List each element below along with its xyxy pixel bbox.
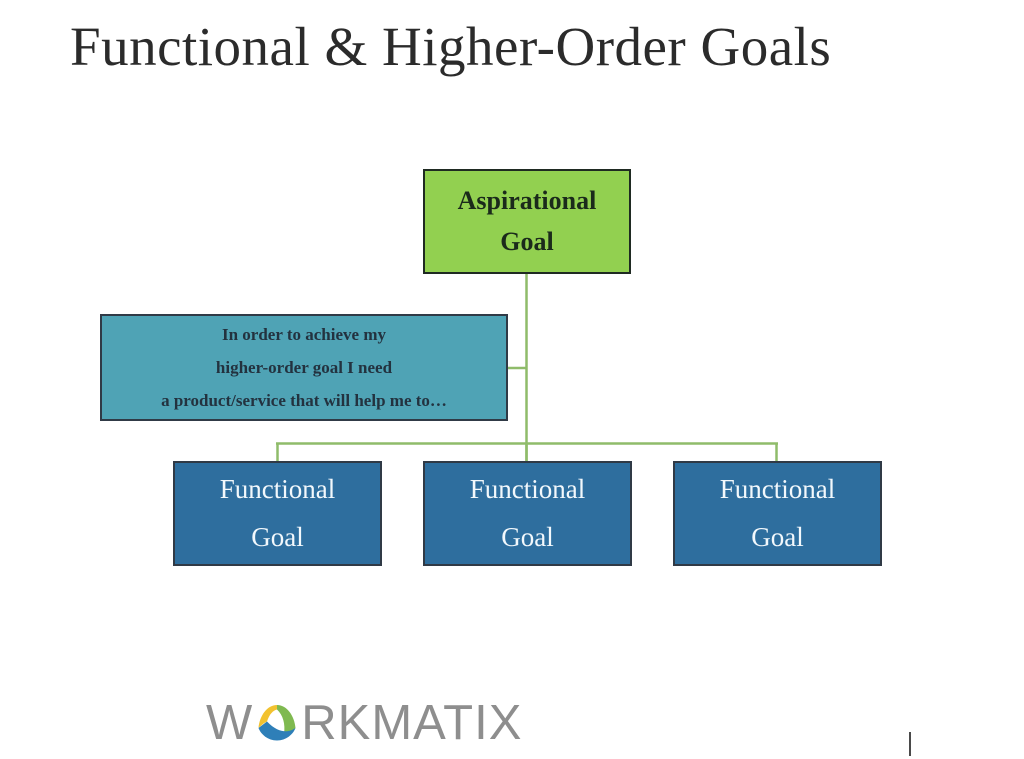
higher-order-statement-label: In order to achieve my higher-order goal…	[161, 318, 447, 417]
functional-goal-label: Functional Goal	[720, 466, 836, 561]
higher-order-statement-box[interactable]: In order to achieve my higher-order goal…	[100, 314, 508, 421]
workmatix-logo: W RKMATIX	[206, 697, 522, 749]
logo-text-trailing: RKMATIX	[301, 699, 522, 748]
functional-goal-box[interactable]: Functional Goal	[423, 461, 632, 566]
functional-goal-box[interactable]: Functional Goal	[173, 461, 382, 566]
slide-canvas: Functional & Higher-Order Goals Aspirati…	[0, 0, 1024, 759]
text-caret-artifact	[909, 732, 911, 756]
workmatix-triangle-icon	[254, 701, 300, 750]
functional-goal-box[interactable]: Functional Goal	[673, 461, 882, 566]
functional-goal-label: Functional Goal	[220, 466, 336, 561]
functional-goal-label: Functional Goal	[470, 466, 586, 561]
page-title: Functional & Higher-Order Goals	[70, 18, 970, 76]
aspirational-goal-box[interactable]: Aspirational Goal	[423, 169, 631, 274]
logo-text-leading: W	[206, 699, 253, 748]
aspirational-goal-label: Aspirational Goal	[458, 181, 597, 262]
